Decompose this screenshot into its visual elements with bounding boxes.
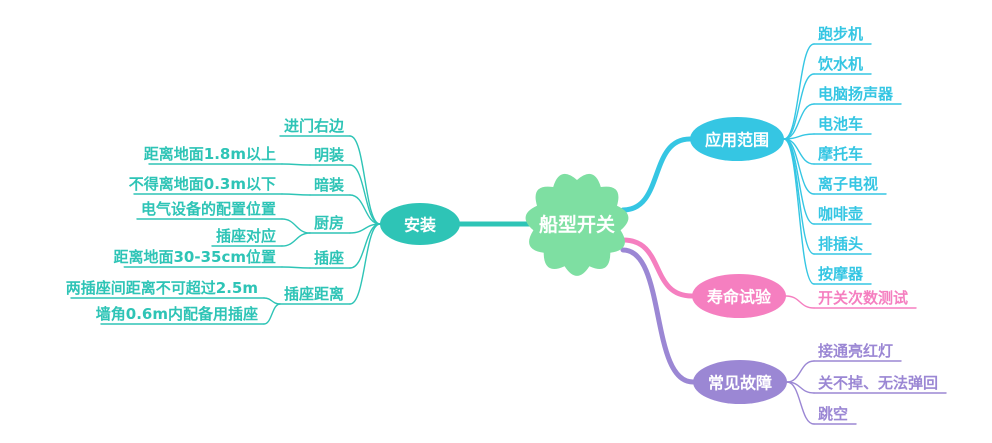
branch-label-life-test: 寿命试验	[707, 288, 772, 307]
leaf-label[interactable]: 插座对应	[216, 227, 276, 245]
leaf-label[interactable]: 距离地面30-35cm位置	[114, 248, 277, 266]
leaf-label[interactable]: 饮水机	[817, 55, 863, 73]
leaf-connector	[784, 139, 814, 254]
leaf-connector	[787, 361, 814, 382]
leaf-label[interactable]: 开关次数测试	[818, 289, 908, 307]
leaf-connector	[784, 139, 814, 284]
leaf-label[interactable]: 关不掉、无法弹回	[818, 374, 938, 392]
leaf-connector	[786, 296, 814, 308]
leaf-label[interactable]: 按摩器	[818, 265, 864, 283]
leaf-connector	[350, 224, 380, 304]
leaf-connector	[282, 164, 310, 165]
leaf-connector	[350, 165, 380, 224]
mindmap-svg: 船型开关应用范围跑步机饮水机电脑扬声器电池车摩托车离子电视咖啡壶排插头按摩器寿命…	[0, 0, 992, 443]
leaf-label[interactable]: 接通亮红灯	[818, 342, 893, 360]
leaf-label[interactable]: 电池车	[818, 115, 863, 133]
leaf-connector	[282, 194, 310, 195]
connector-layer	[71, 44, 946, 424]
leaf-label[interactable]: 摩托车	[818, 145, 863, 163]
leaf-label[interactable]: 跑步机	[818, 25, 863, 43]
leaf-label[interactable]: 不得离地面0.3m以下	[129, 175, 276, 193]
leaf-connector	[784, 139, 814, 194]
leaf-connector	[784, 74, 814, 139]
leaf-connector	[264, 298, 280, 304]
leaf-connector	[282, 233, 310, 246]
branch-label-installation: 安装	[404, 216, 436, 235]
leaf-label[interactable]: 电气设备的配置位置	[141, 200, 276, 218]
leaf-label[interactable]: 进门右边	[284, 117, 345, 135]
branch-label-application-scope: 应用范围	[705, 131, 769, 150]
node-layer	[380, 117, 787, 404]
leaf-label[interactable]: 插座	[314, 249, 344, 267]
leaf-label[interactable]: 离子电视	[818, 175, 878, 193]
leaf-label[interactable]: 距离地面1.8m以上	[144, 145, 276, 163]
leaf-label[interactable]: 跳空	[818, 405, 848, 423]
leaf-label[interactable]: 厨房	[314, 214, 344, 232]
branch-connector-application-scope	[623, 139, 690, 210]
leaf-label[interactable]: 排插头	[818, 235, 863, 253]
leaf-label[interactable]: 两插座间距离不可超过2.5m	[66, 279, 258, 297]
mindmap-canvas: 船型开关应用范围跑步机饮水机电脑扬声器电池车摩托车离子电视咖啡壶排插头按摩器寿命…	[0, 0, 992, 443]
leaf-label[interactable]: 明装	[314, 146, 345, 164]
center-node-label: 船型开关	[539, 213, 615, 236]
leaf-label[interactable]: 咖啡壶	[818, 205, 863, 223]
branch-connector-life-test	[623, 240, 692, 296]
leaf-label[interactable]: 暗装	[314, 176, 345, 194]
leaf-connector	[264, 304, 280, 324]
leaf-connector	[282, 219, 310, 233]
branch-label-common-faults: 常见故障	[708, 374, 772, 393]
leaf-label[interactable]: 墙角0.6m内配备用插座	[96, 305, 258, 323]
leaf-connector	[350, 195, 380, 224]
leaf-label[interactable]: 电脑扬声器	[818, 85, 894, 103]
leaf-connector	[784, 44, 814, 139]
leaf-label[interactable]: 插座距离	[284, 285, 344, 303]
leaf-connector	[282, 267, 310, 268]
